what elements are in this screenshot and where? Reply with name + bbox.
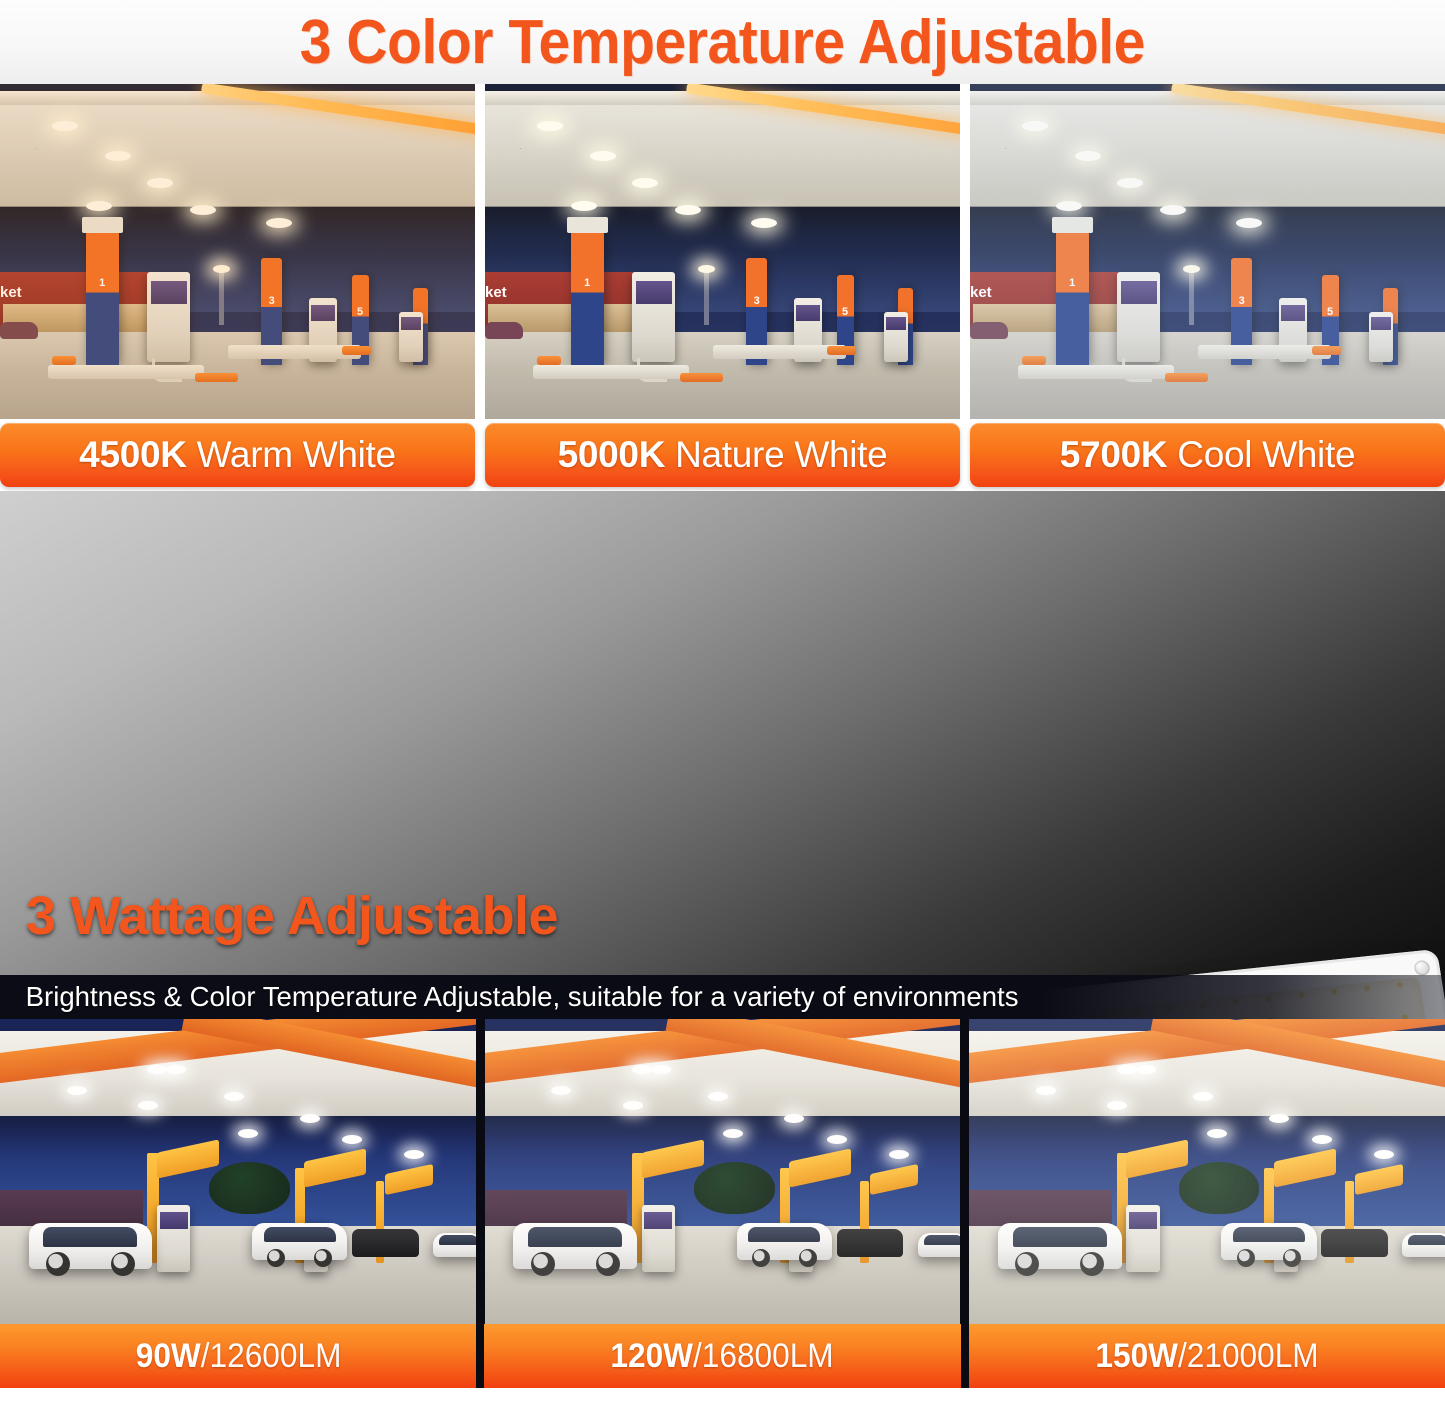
ceiling-light <box>1022 121 1048 131</box>
ceiling-light <box>190 205 216 215</box>
cct-photo-cool: ket 1 3 5 7 <box>970 84 1445 419</box>
white-car <box>433 1233 476 1257</box>
kerb-marker <box>680 373 723 382</box>
tree <box>694 1162 775 1214</box>
ceiling-light <box>590 151 616 161</box>
ceiling-light <box>632 178 658 188</box>
tree <box>209 1162 290 1214</box>
wattage-caption-120w: 120W/16800LM <box>484 1324 960 1388</box>
caption-name: Warm White <box>187 434 396 475</box>
pillar-cap <box>82 217 123 233</box>
canopy-roof <box>0 91 475 207</box>
ceiling-light <box>1160 205 1186 215</box>
white-car <box>513 1223 637 1269</box>
fuel-pump <box>157 1205 190 1272</box>
wattage-value: 150W <box>1095 1337 1178 1375</box>
pump-display <box>160 1212 188 1229</box>
caption-name: Nature White <box>665 434 887 475</box>
cct-photo-neutral: ket 1 3 5 7 <box>485 84 960 419</box>
wattage-photo-90w <box>0 1019 476 1324</box>
wattage-heading: 3 Wattage Adjustable <box>26 885 558 947</box>
canopy-pillar: 1 <box>571 231 604 365</box>
ceiling-light <box>723 1129 743 1138</box>
car-wheel <box>531 1252 555 1276</box>
pump-island <box>1018 365 1175 379</box>
subtitle-bar: Brightness & Color Temperature Adjustabl… <box>0 975 1445 1019</box>
pole-light <box>219 272 224 326</box>
ceiling-light <box>1117 1065 1137 1074</box>
pillar-number: 1 <box>86 277 119 289</box>
gas-station-dusk-scene <box>485 1019 961 1324</box>
canopy-pillar: 1 <box>86 231 119 365</box>
pump-display <box>311 305 335 322</box>
ceiling-light <box>1312 1135 1332 1144</box>
gas-station-dusk-scene <box>969 1019 1445 1324</box>
white-car <box>998 1223 1122 1269</box>
wattage-value: 120W <box>611 1337 694 1375</box>
car-wheel <box>1237 1249 1255 1267</box>
caption-value: 5000K <box>558 434 666 475</box>
pump-display <box>796 305 820 322</box>
pillar-number: 5 <box>352 306 369 318</box>
fuel-pump <box>147 272 190 362</box>
caption-text: 90W/12600LM <box>135 1337 341 1376</box>
kerb-marker <box>827 346 856 355</box>
fuel-pump <box>1369 312 1393 362</box>
ceiling-light <box>1117 178 1143 188</box>
kerb-marker <box>1022 356 1046 365</box>
pump-display <box>886 317 906 330</box>
ceiling-light <box>1075 151 1101 161</box>
pump-island <box>48 365 205 379</box>
page-title: 3 Color Temperature Adjustable <box>300 7 1145 78</box>
wattage-caption-150w: 150W/21000LM <box>969 1324 1445 1388</box>
cct-photo-row: ket 1 3 5 7 <box>0 84 1445 419</box>
white-car <box>918 1233 961 1257</box>
pillar-number: 1 <box>571 277 604 289</box>
pump-display <box>1371 317 1391 330</box>
header-banner: 3 Color Temperature Adjustable <box>0 0 1445 84</box>
pump-display <box>1281 305 1305 322</box>
white-car <box>1402 1233 1445 1257</box>
ceiling-light <box>1236 218 1262 228</box>
gas-station-scene: ket 1 3 5 7 <box>485 84 960 419</box>
pillar-number: 3 <box>261 295 282 307</box>
car-wheel <box>314 1249 332 1267</box>
canopy-roof <box>970 91 1445 207</box>
gas-station-scene: ket 1 3 5 7 <box>970 84 1445 419</box>
wattage-caption-row: 90W/12600LM 120W/16800LM 150W/21000LM <box>0 1324 1445 1388</box>
gas-station-scene: ket 1 3 5 7 <box>0 84 475 419</box>
store-sign: ket <box>485 284 507 301</box>
parked-car <box>485 322 523 339</box>
cct-caption-row: 4500K Warm White 5000K Nature White 5700… <box>0 419 1445 491</box>
car-wheel <box>46 1252 70 1276</box>
ceiling-light <box>105 151 131 161</box>
ceiling-light <box>238 1129 258 1138</box>
ceiling-light <box>1136 1065 1156 1074</box>
wattage-value: 90W <box>135 1337 200 1375</box>
pillar-number: 3 <box>1231 295 1252 307</box>
fuel-pump <box>399 312 423 362</box>
kerb-marker <box>1312 346 1341 355</box>
canopy-pillar: 1 <box>1056 231 1089 365</box>
dark-car <box>352 1229 419 1256</box>
caption-text: 5000K Nature White <box>558 434 888 476</box>
pillar-number: 5 <box>837 306 854 318</box>
wattage-photo-row <box>0 1019 1445 1324</box>
cct-caption-cool: 5700K Cool White <box>970 423 1445 487</box>
fuel-pump <box>884 312 908 362</box>
dark-car <box>837 1229 904 1256</box>
wattage-caption-90w: 90W/12600LM <box>0 1324 476 1388</box>
ceiling-light <box>651 1065 671 1074</box>
ceiling-light <box>224 1092 244 1101</box>
wattage-photo-120w <box>485 1019 961 1324</box>
ceiling-light <box>52 121 78 131</box>
car-wheel <box>111 1252 135 1276</box>
caption-text: 5700K Cool White <box>1060 434 1355 476</box>
canopy-roof <box>485 91 960 207</box>
pump-display <box>151 281 187 305</box>
fuel-pump <box>632 272 675 362</box>
pump-display <box>636 281 672 305</box>
kerb-marker <box>537 356 561 365</box>
ceiling-light <box>147 178 173 188</box>
car-wheel <box>799 1249 817 1267</box>
fuel-pump <box>1117 272 1160 362</box>
store-sign: ket <box>970 284 992 301</box>
caption-text: 120W/16800LM <box>611 1337 834 1376</box>
pillar-cap <box>1052 217 1093 233</box>
white-car <box>252 1223 347 1260</box>
ceiling-light <box>1269 1114 1289 1123</box>
ceiling-light <box>147 1065 167 1074</box>
white-car <box>737 1223 832 1260</box>
cct-caption-warm: 4500K Warm White <box>0 423 475 487</box>
lumen-value: /12600LM <box>200 1337 341 1375</box>
store-sign: ket <box>0 284 22 301</box>
pillar-number: 3 <box>746 295 767 307</box>
car-wheel <box>596 1252 620 1276</box>
pillar-number: 1 <box>1056 277 1089 289</box>
white-car <box>29 1223 153 1269</box>
ceiling-light <box>827 1135 847 1144</box>
caption-name: Cool White <box>1167 434 1355 475</box>
caption-text: 4500K Warm White <box>79 434 396 476</box>
caption-value: 5700K <box>1060 434 1168 475</box>
fuel-pump <box>1126 1205 1159 1272</box>
pump-display <box>1129 1212 1157 1229</box>
pole-light <box>1189 272 1194 326</box>
pump-display <box>401 317 421 330</box>
kerb-marker <box>342 346 371 355</box>
white-car <box>1221 1223 1316 1260</box>
ceiling-light <box>67 1086 87 1095</box>
caption-text: 150W/21000LM <box>1095 1337 1318 1376</box>
dark-car <box>1321 1229 1388 1256</box>
ceiling-light <box>751 218 777 228</box>
cct-caption-neutral: 5000K Nature White <box>485 423 960 487</box>
subtitle-text: Brightness & Color Temperature Adjustabl… <box>0 981 1018 1013</box>
pump-display <box>644 1212 672 1229</box>
gas-station-dusk-scene <box>0 1019 476 1324</box>
fuel-pump <box>642 1205 675 1272</box>
car-wheel <box>752 1249 770 1267</box>
kerb-marker <box>1165 373 1208 382</box>
lumen-value: /16800LM <box>693 1337 834 1375</box>
ceiling-light <box>537 121 563 131</box>
ceiling-light <box>784 1114 804 1123</box>
ceiling-light <box>632 1065 652 1074</box>
feature-section: CCT Adjustable CCT 4500K 5000K 5700K Pow… <box>0 491 1445 1019</box>
parked-car <box>970 322 1008 339</box>
kerb-marker <box>52 356 76 365</box>
ceiling-light <box>1374 1150 1394 1159</box>
ceiling-light <box>1036 1086 1056 1095</box>
caption-value: 4500K <box>79 434 187 475</box>
ceiling-light <box>266 218 292 228</box>
ceiling-light <box>300 1114 320 1123</box>
ceiling-light <box>1207 1129 1227 1138</box>
parked-car <box>0 322 38 339</box>
ceiling-light <box>675 205 701 215</box>
wattage-photo-150w <box>969 1019 1445 1324</box>
tree <box>1179 1162 1260 1214</box>
pillar-cap <box>567 217 608 233</box>
ceiling-light <box>166 1065 186 1074</box>
pillar-number: 5 <box>1322 306 1339 318</box>
panel-screw <box>1413 960 1430 976</box>
pole-light <box>704 272 709 326</box>
pump-island <box>533 365 690 379</box>
lumen-value: /21000LM <box>1178 1337 1319 1375</box>
pump-display <box>1121 281 1157 305</box>
kerb-marker <box>195 373 238 382</box>
cct-photo-warm: ket 1 3 5 7 <box>0 84 475 419</box>
